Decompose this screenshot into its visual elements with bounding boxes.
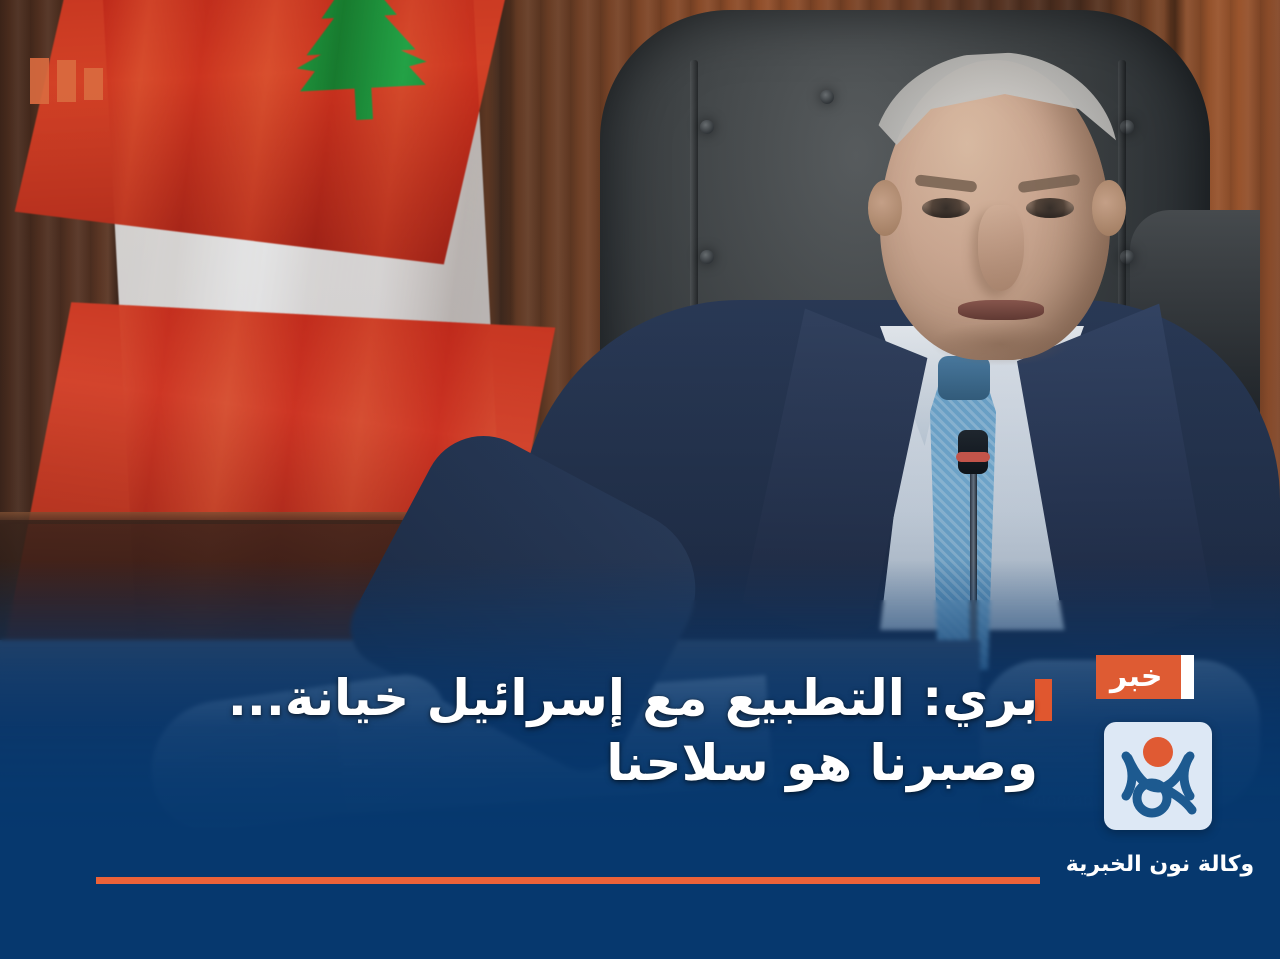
three-bars-icon <box>30 58 103 104</box>
eye-left <box>922 198 970 218</box>
chair-tuft <box>820 90 834 104</box>
chair-tuft <box>700 250 714 264</box>
news-badge: خبر <box>1096 655 1194 699</box>
ear-right <box>1092 180 1126 236</box>
headline-line-1: بري: التطبيع مع إسرائيل خيانة... <box>208 666 1038 731</box>
noon-agency-logo-icon <box>1104 722 1212 830</box>
eye-right <box>1026 198 1074 218</box>
headline-line-2: وصبرنا هو سلاحنا <box>208 731 1038 796</box>
news-badge-tab <box>1181 655 1194 699</box>
bar-3 <box>84 68 103 100</box>
news-badge-label: خبر <box>1096 655 1181 699</box>
agency-name: وكالة نون الخبرية <box>1020 852 1280 877</box>
ear-left <box>868 180 902 236</box>
headline: بري: التطبيع مع إسرائيل خيانة... وصبرنا … <box>208 666 1038 796</box>
news-card: Photography talks بري: التطبيع مع إسرائي… <box>0 0 1280 959</box>
chair-tuft <box>700 120 714 134</box>
chin-shadow <box>930 322 1070 366</box>
orange-divider-rule <box>96 877 1040 884</box>
necktie <box>930 370 996 670</box>
background-photo: Photography talks <box>0 0 1280 959</box>
mouth <box>958 300 1044 320</box>
bar-2 <box>57 60 76 102</box>
microphone-ring <box>956 452 990 462</box>
nose <box>978 205 1024 291</box>
bar-1 <box>30 58 49 104</box>
